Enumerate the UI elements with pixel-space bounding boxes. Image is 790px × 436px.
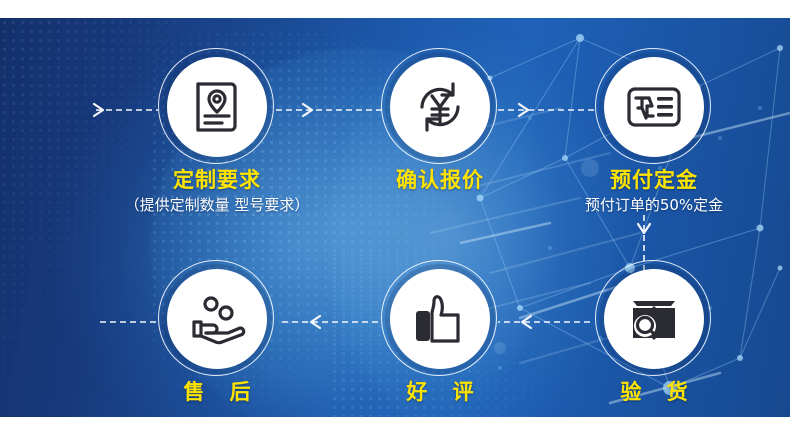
arrow-step2-step3 <box>498 104 596 116</box>
step-1[interactable]: 定制要求 （提供定制数量 型号要求） <box>157 57 277 213</box>
arrow-step6-step5 <box>498 316 590 328</box>
document-location-icon <box>186 76 248 138</box>
step-6-title: 验 货 <box>594 382 714 403</box>
step-5-title: 好 评 <box>380 382 500 403</box>
box-magnifier-icon <box>623 288 685 350</box>
step-3-title: 预付定金 <box>594 170 714 191</box>
step-4-circle[interactable] <box>167 269 267 369</box>
step-2-title: 确认报价 <box>380 170 500 191</box>
prepay-card-icon <box>623 76 685 138</box>
step-4[interactable]: 售 后 <box>157 269 277 403</box>
step-2-circle[interactable] <box>390 57 490 157</box>
hand-service-icon <box>186 288 248 350</box>
step-3-subtitle: 预付订单的50%定金 <box>554 198 754 213</box>
step-6[interactable]: 验 货 <box>594 269 714 403</box>
process-flow-graphic: .dash{stroke:#ffffff;stroke-width:1.6;st… <box>0 0 790 436</box>
arrow-entry <box>94 104 158 116</box>
step-3-circle[interactable] <box>604 57 704 157</box>
step-3[interactable]: 预付定金 预付订单的50%定金 <box>594 57 714 213</box>
thumbs-up-icon <box>410 289 470 349</box>
step-6-circle[interactable] <box>604 269 704 369</box>
yuan-refresh-icon <box>407 74 473 140</box>
step-1-subtitle: （提供定制数量 型号要求） <box>111 198 323 213</box>
step-5-circle[interactable] <box>390 269 490 369</box>
step-1-circle[interactable] <box>167 57 267 157</box>
arrow-step5-step4 <box>278 316 378 328</box>
step-1-title: 定制要求 <box>157 170 277 191</box>
step-4-title: 售 后 <box>157 382 277 403</box>
step-5[interactable]: 好 评 <box>380 269 500 403</box>
step-2[interactable]: 确认报价 <box>380 57 500 191</box>
arrow-step1-step2 <box>276 104 382 116</box>
